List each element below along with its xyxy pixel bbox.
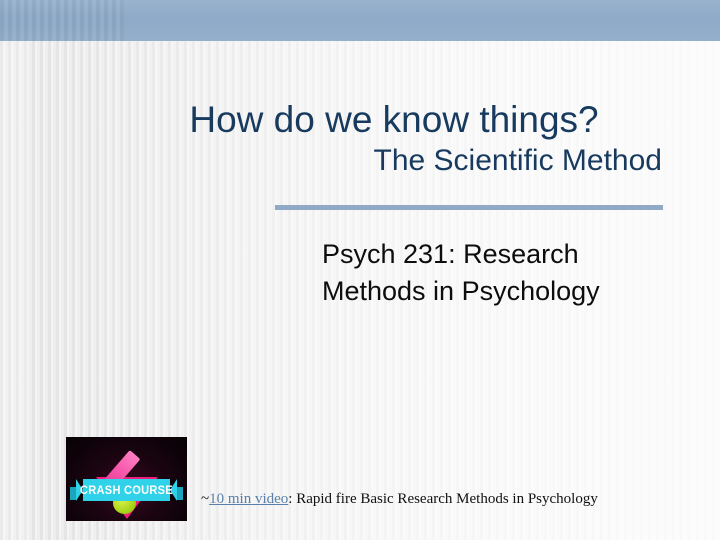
title-block: How do we know things? The Scientific Me… — [120, 98, 668, 180]
crash-course-thumbnail[interactable]: CRASH COURSE — [66, 437, 187, 521]
slide-subtitle: The Scientific Method — [120, 142, 668, 180]
presentation-slide: How do we know things? The Scientific Me… — [0, 0, 720, 540]
ribbon-label: CRASH COURSE — [80, 479, 173, 501]
background-left-margin — [0, 41, 28, 540]
course-name-text: Psych 231: Research Methods in Psycholog… — [322, 236, 682, 310]
video-caption: ~10 min video: Rapid fire Basic Research… — [201, 490, 598, 509]
top-banner-sheen — [0, 0, 720, 41]
caption-rest: : Rapid fire Basic Research Methods in P… — [288, 491, 598, 507]
caption-tilde: ~ — [201, 491, 209, 507]
top-banner — [0, 0, 720, 41]
video-link[interactable]: 10 min video — [209, 491, 288, 507]
slide-title: How do we know things? — [120, 98, 668, 142]
title-divider-rule — [275, 205, 663, 210]
